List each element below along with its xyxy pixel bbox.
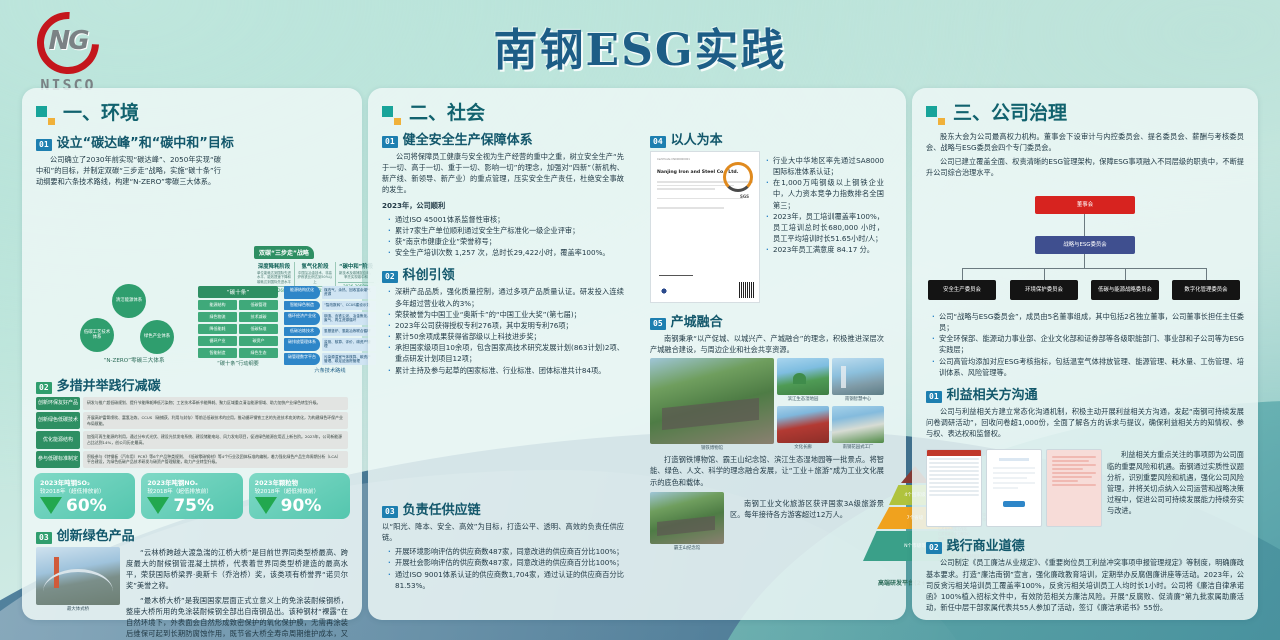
route-key: 低碳冶炼技术 (284, 327, 320, 336)
bullet-item: 通过ISO 45001体系监督性审核； (388, 214, 624, 225)
safety-body: 公司将保障员工健康与安全视为生产经营的重中之重，树立安全生产“先于一切、高于一切… (382, 151, 624, 196)
routes-caption: 六条技术路线 (284, 367, 376, 374)
photo-block-garden: 南钢花园式工厂 (832, 406, 884, 451)
supply-chain-bullets: 开展环境影响评估的供应商数487家，同意改进的供应商百分比100%；开展社会影响… (388, 546, 624, 591)
strategy-step-name: 氢气化阶段 (297, 262, 333, 270)
tourism-aside: 南钢工业文化旅游区获评国家3A级旅游景区。每年接待各方游客超过12万人。 (730, 498, 884, 551)
square-marker-icon (926, 106, 937, 117)
category-value: 加强可再生能源的利用，通过分布式光伏、建设光伏发电系统、建设储能电站、风力发电项… (83, 431, 348, 448)
smart-photo-caption: 南钢智慧中心 (832, 396, 884, 402)
memorial-row: 霸王山纪念馆 南钢工业文化旅游区获评国家3A级旅游景区。每年接待各方游客超过12… (650, 492, 884, 551)
subsection-heading-safety: 01 健全安全生产保障体系 (382, 129, 638, 148)
ten-policy-item: 绿色生态 (239, 348, 278, 358)
subsection-title: 设立“碳达峰”和“碳中和”目标 (57, 132, 234, 151)
governance-bullets: 公司“战略与ESG委员会”，成员由5名董事组成，其中包括2名独立董事，公司董事长… (932, 311, 1244, 378)
stat-metric: 2023年颗粒物 (255, 478, 344, 487)
subsection-title: 以人为本 (671, 129, 723, 148)
stat-row: 90% (255, 496, 344, 516)
memorial-photo-caption: 霸王山纪念馆 (650, 545, 724, 551)
org-connector-bus (962, 268, 1206, 269)
bullet-item: 累计主持及参与起草的国家标准、行业标准、团体标准共计84项。 (388, 365, 624, 376)
city-integration-footer: 打造钢铁博物馆、霸王山纪念馆、滨江生态湿地园等一批景点。将智能、绿色、人文、科学… (650, 454, 884, 487)
down-arrow-icon (255, 497, 277, 514)
ten-policy-item: 能源结构 (198, 300, 237, 310)
category-key: 创新绿色低碳技术 (36, 412, 80, 429)
down-arrow-icon (147, 497, 169, 514)
emission-stat-card: 2023年吨钢SO₂较2018年（超低排放前）60% (34, 473, 135, 519)
bullet-item: 2023年，员工培训覆盖率100%，员工培训总时长680,000 小时，员工平均… (766, 211, 884, 244)
certificate-seal-icon (723, 162, 753, 192)
safety-year-lead: 2023年，公司顺利 (382, 200, 624, 211)
subsection-number: 03 (36, 532, 52, 544)
bullet-item: 累计50余项成果获得省部级以上科技进步奖； (388, 331, 624, 342)
ten-policy-item: 低碳管理 (239, 300, 278, 310)
ten-policies-chart: “碳十条” 能源结构低碳管理绿色物流技术减碳降低能耗低碳标准循环产业碳资产智能制… (198, 286, 278, 367)
subsection-heading-carbon-goal: 01 设立“碳达峰”和“碳中和”目标 (36, 132, 362, 151)
shot-rows (1047, 450, 1101, 494)
bullet-item: 开展环境影响评估的供应商数487家，同意改进的供应商百分比100%； (388, 546, 624, 557)
memorial-photo (650, 492, 724, 544)
museum-photo (650, 358, 774, 444)
tech-route-row: 能源结构优化煤改气、余热、回收富余煤气资源 (284, 286, 376, 299)
certificate-id: Certificate CN000000001 (657, 158, 753, 161)
bullet-item: 2023年公司获得授权专利276项，其中发明专利76项； (388, 320, 624, 331)
stat-baseline: 较2018年（超低排放前） (255, 487, 344, 495)
green-product-p2: “最木桥大桥”是我国国家层面正式立意义上的免涂装耐候钢桥，整座大桥所用的免涂装耐… (126, 595, 348, 640)
stat-baseline: 较2018年（超低排放前） (40, 487, 129, 495)
six-tech-routes: 能源结构优化煤改气、余热、回收富余煤气资源智能绿色制造“智改数转”、CCUS建设… (284, 286, 376, 374)
photo-block-memorial: 霸王山纪念馆 (650, 492, 724, 551)
route-key: 智能绿色制造 (284, 301, 320, 310)
stat-metric: 2023年吨钢NOₓ (147, 478, 236, 487)
ten-policies-grid: 能源结构低碳管理绿色物流技术减碳降低能耗低碳标准循环产业碳资产智能制造绿色生态 (198, 300, 278, 358)
subsection-heading-decarbonization: 02 多措并举践行减碳 (36, 375, 362, 394)
org-connector-2 (1084, 254, 1085, 268)
square-marker-icon (382, 106, 393, 117)
bullet-item: 安全生产培训次数 1,257 次，总时长29,422小时，覆盖率100%。 (388, 247, 624, 258)
bridge-photo (36, 547, 120, 605)
decarbonization-category-row: 优化能源结构加强可再生能源的利用，通过分布式光伏、建设光伏发电系统、建设储能电站… (36, 431, 348, 448)
corridor-photo-caption: 文化长廊 (777, 444, 829, 450)
subsection-number: 03 (382, 506, 398, 518)
org-node-esg-committee: 战略与ESG委员会 (1035, 236, 1135, 254)
subsection-title: 科创引领 (403, 264, 455, 283)
square-accent-icon (48, 118, 55, 125)
org-drop-2 (1044, 268, 1045, 280)
bullet-item: 通过ISO 9001体系认证的供应商数1,704家，通过认证的供应商百分比81.… (388, 569, 624, 591)
governance-bullets-block: 公司“战略与ESG委员会”，成员由5名董事组成，其中包括2名独立董事，公司董事长… (912, 310, 1258, 616)
decarbonization-categories: 创新环保友好产品研发与推广超低碳规划、提升节能降耗降低污染物；工艺技术革新节能降… (22, 397, 362, 467)
section-title: 一、环境 (63, 98, 139, 125)
square-marker-icon (36, 106, 47, 117)
bullet-item: 在1,000万吨钢级以上钢铁企业中，人力资本竞争力指数排名全国第三； (766, 177, 884, 210)
ten-policies-header: “碳十条” (198, 286, 278, 298)
society-left-column: 01 健全安全生产保障体系 公司将保障员工健康与安全视为生产经营的重中之重，树立… (368, 122, 638, 378)
wetland-photo-caption: 滨江生态湿地园 (777, 396, 829, 402)
photo-grid-4: 滨江生态湿地园 南钢智慧中心 文化长廊 南钢花园式工厂 (777, 358, 884, 451)
shot-rows (927, 456, 981, 500)
shot-body (987, 450, 1041, 515)
nzero-caption: “N-ZERO”零碳三大体系 (78, 356, 190, 364)
strategy-tag: 双碳“三步走”战略 (254, 246, 314, 259)
category-key: 参与低碳标准制定 (36, 451, 80, 468)
bullet-item: 安全环保部、能源动力事业部、企业文化部和证券部等各级职能部门、事业部和子公司等为… (932, 333, 1244, 355)
category-value: 积极参与《特钢板（汽车用）PCR》等6个产品种类规则、《低碳零碳钢材》等4个行业… (83, 451, 348, 468)
org-drop-4 (1206, 268, 1207, 280)
city-integration-body: 南钢秉承“以产促城、以城兴产、产城融合”的理念，积极推进深层次产城融合建设，与周… (650, 333, 884, 355)
subsection-number: 02 (382, 271, 398, 283)
decarbonization-category-row: 创新绿色低碳技术开展高炉富氧喷吹、富氢冶炼、CCUS（碳捕获、利用与封存）等前沿… (36, 412, 348, 429)
org-node-low-carbon: 低碳与能源战略委员会 (1091, 280, 1159, 300)
garden-photo-caption: 南钢花园式工厂 (832, 444, 884, 450)
subsection-heading-supply-chain: 03 负责任供应链 (382, 499, 638, 518)
panel-society: 二、社会 01 健全安全生产保障体系 公司将保障员工健康与安全视为生产经营的重中… (368, 88, 906, 620)
photo-block-smart: 南钢智慧中心 (832, 358, 884, 403)
tech-route-row: 碳管理数字平台污染源温室气体核算、碳资产管理、碳足迹追踪管理 (284, 353, 376, 366)
ethics-body: 公司制定《员工廉洁从业规定》、《重要岗位员工利益冲突事项申报管理规定》等制度，明… (926, 557, 1244, 613)
subsection-heading-stakeholder: 01 利益相关方沟通 (926, 384, 1258, 403)
bullet-item: 开展社会影响评估的供应商数487家，同意改进的供应商百分比100%； (388, 557, 624, 568)
section-heading-governance: 三、公司治理 (926, 98, 1258, 125)
org-connector-1 (1084, 214, 1085, 236)
supply-chain-body: 以“阳光、降本、安全、高效”为目标，打造公平、透明、高效的负责任供应链。 (382, 521, 624, 543)
tech-route-row: 智能绿色制造“智改数转”、CCUS建设示范 (284, 301, 376, 310)
wetland-photo (777, 358, 829, 395)
subsection-title: 负责任供应链 (403, 499, 481, 518)
photo-block-wetland: 滨江生态湿地园 (777, 358, 829, 403)
subsection-title: 践行商业道德 (947, 535, 1025, 554)
org-drop-3 (1125, 268, 1126, 280)
bullet-item: 承担国家级项目10余项，包含国家高技术研究发展计划(863计划)2项、重点研发计… (388, 342, 624, 364)
bullet-item: 深耕产品品质，强化质量控制，通过多项产品质量认证。研发投入连续多年超过营业收入的… (388, 286, 624, 308)
subsection-heading-people: 04 以人为本 (650, 129, 898, 148)
bridge-photo-block: 最大体式桥 (36, 547, 120, 640)
certificate-logo-icon (659, 286, 669, 296)
stat-baseline: 较2018年（超低排放前） (147, 487, 236, 495)
supply-chain-block: 03 负责任供应链 以“阳光、降本、安全、高效”为目标，打造公平、透明、高效的负… (368, 492, 638, 593)
down-arrow-icon (40, 497, 62, 514)
category-value: 研发与推广超低碳规划、提升节能降耗降低污染物；工艺技术革新节能降耗、聚力区域重点… (83, 397, 348, 410)
subsection-number: 01 (926, 391, 942, 403)
city-photo-grid: 钢铁博物馆 滨江生态湿地园 南钢智慧中心 文化长廊 南钢花园式工厂 (650, 358, 884, 451)
org-node-board: 董事会 (1035, 196, 1135, 214)
section-heading-environment: 一、环境 (36, 98, 362, 125)
ten-policy-item: 循环产业 (198, 336, 237, 346)
subsection-heading-ethics: 02 践行商业道德 (926, 535, 1258, 554)
stat-row: 60% (40, 496, 129, 516)
tech-route-row: 循环经济产业化钢渣、含铁尘泥、冶金焦化、废气、再生资源循环 (284, 312, 376, 325)
square-accent-icon (938, 118, 945, 125)
museum-photo-caption: 钢铁博物馆 (650, 445, 774, 451)
sa8000-certificate-image: Certificate CN000000001 Nanjing Iron and… (650, 151, 760, 303)
nzero-node-2: 低碳工艺技术体系 (80, 318, 114, 352)
subsection-number: 02 (926, 542, 942, 554)
safety-bullets: 通过ISO 45001体系监督性审核；累计7家生产单位顺利通过安全生产标准化一级… (388, 214, 624, 259)
category-key: 创新环保友好产品 (36, 397, 80, 410)
ten-policies-caption: “碳十条”行动纲要 (198, 360, 278, 367)
bullet-item: 2023年员工满意度 84.17 分。 (766, 244, 884, 255)
emission-stat-card: 2023年颗粒物较2018年（超低排放前）90% (249, 473, 350, 519)
subsection-number: 01 (382, 136, 398, 148)
people-row: Certificate CN000000001 Nanjing Iron and… (650, 151, 884, 303)
strategy-step-desc: 单位能耗达到国际先进水平，能效提速下降和碳耗达到国际先进水平 (256, 271, 292, 284)
governance-org-chart: 董事会 战略与ESG委员会 安全生产委员会 环境保护委员会 低碳与能源战略委员会… (924, 196, 1246, 308)
stat-percent: 90% (281, 496, 322, 516)
subsection-number: 01 (36, 139, 52, 151)
nzero-diagram: 清洁能源体系 低碳工艺技术体系 绿色产业体系 “N-ZERO”零碳三大体系 (78, 284, 190, 362)
stat-metric: 2023年吨钢SO₂ (40, 478, 129, 487)
ten-policy-item: 智能制造 (198, 348, 237, 358)
subsection-title: 利益相关方沟通 (947, 384, 1038, 403)
strategy-step-name: 深度降耗阶段 (256, 262, 292, 270)
governance-intro-1: 股东大会为公司最高权力机构。董事会下设审计与内控委员会、提名委员会、薪酬与考核委… (926, 131, 1244, 153)
garden-factory-photo (832, 406, 884, 443)
category-value: 开展高炉富氧喷吹、富氢冶炼、CCUS（碳捕获、利用与封存）等前沿低碳技术的应用，… (83, 412, 348, 429)
society-right-column: 04 以人为本 Certificate CN000000001 Nanjing … (636, 122, 898, 551)
shot-materiality-matrix: 重要议题矩阵 (1046, 449, 1102, 527)
org-node-digital: 数字化管理委员会 (1172, 280, 1240, 300)
subsection-title: 健全安全生产保障体系 (403, 129, 533, 148)
photo-block-corridor: 文化长廊 (777, 406, 829, 451)
stakeholder-body: 公司与利益相关方建立常态化沟通机制，积极主动开展利益相关方沟通，发起“南钢可持续… (926, 406, 1244, 439)
emission-stat-card: 2023年吨钢NOₓ较2018年（超低排放前）75% (141, 473, 242, 519)
certificate-signature (659, 269, 693, 276)
subsection-heading-city-integration: 05 产城融合 (650, 311, 898, 330)
bullet-item: 累计7家生产单位顺利通过安全生产标准化一级企业评审； (388, 225, 624, 236)
shot-survey-questionnaire: 可持续发展调查问卷 (986, 449, 1042, 527)
stat-row: 75% (147, 496, 236, 516)
bullet-item: 荣获被誉为中国工业“奥斯卡”的“中国工业大奖”(第七届)； (388, 309, 624, 320)
stakeholder-row: 利益相关方分类 可持续发展调查问卷 重要议题 (926, 449, 1244, 527)
strategy-step-desc: 中国氢冶金技术，非高炉炼铁比例达到50%以上 (297, 271, 333, 284)
stakeholder-aside: 利益相关方重点关注的事项即为公司面临的重要风险和机遇。南钢通过实质性议题分析，识… (1107, 449, 1244, 527)
tech-route-row: 低碳冶炼技术氢基竖炉、氢能冶炼联合循环 (284, 327, 376, 336)
ten-policy-item: 碳资产 (239, 336, 278, 346)
route-key: 碳管理数字平台 (284, 353, 320, 366)
decarbonization-category-row: 参与低碳标准制定积极参与《特钢板（汽车用）PCR》等6个产品种类规则、《低碳零碳… (36, 451, 348, 468)
panel-environment: 一、环境 01 设立“碳达峰”和“碳中和”目标 公司确立了2030年前实现“碳达… (22, 88, 362, 620)
route-key: 循环经济产业化 (284, 312, 320, 325)
routes-list: 能源结构优化煤改气、余热、回收富余煤气资源智能绿色制造“智改数转”、CCUS建设… (284, 286, 376, 365)
category-key: 优化能源结构 (36, 431, 80, 448)
route-key: 能源结构优化 (284, 286, 320, 299)
certificate-seal-label: SGS (740, 194, 749, 199)
subsection-title: 多措并举践行减碳 (57, 375, 161, 394)
subsection-number: 02 (36, 382, 52, 394)
section-title: 三、公司治理 (953, 98, 1067, 125)
emission-stat-cards: 2023年吨钢SO₂较2018年（超低排放前）60%2023年吨钢NOₓ较201… (34, 473, 350, 519)
decarbonization-category-row: 创新环保友好产品研发与推广超低碳规划、提升节能降耗降低污染物；工艺技术革新节能降… (36, 397, 348, 410)
nzero-node-1: 清洁能源体系 (112, 284, 146, 318)
green-products-top: 最大体式桥 “云林桥跨越大渡急湍的江桥大桥”是目前世界同类型桥最高、跨度最大的耐… (36, 547, 348, 640)
subsection-number: 05 (650, 318, 666, 330)
certificate-qr-icon (739, 282, 755, 298)
ten-policy-item: 技术减碳 (239, 312, 278, 322)
innovation-bullets: 深耕产品品质，强化质量控制，通过多项产品质量认证。研发投入连续多年超过营业收入的… (388, 286, 624, 375)
photo-block-museum: 钢铁博物馆 (650, 358, 774, 451)
shot-stakeholder-classification: 利益相关方分类 (926, 449, 982, 527)
stat-percent: 60% (66, 496, 107, 516)
people-bullets: 行业大中华地区率先通过SA8000国际标准体系认证；在1,000万吨钢级以上钢铁… (766, 155, 884, 303)
bullet-item: 公司“战略与ESG委员会”，成员由5名董事组成，其中包括2名独立董事，公司董事长… (932, 311, 1244, 333)
subsection-title: 产城融合 (671, 311, 723, 330)
org-drop-1 (962, 268, 963, 280)
bullet-item: 公司高管均添加对应ESG考核指标，包括温室气体排放管理、能源管理、耗水量、工伤管… (932, 356, 1244, 378)
carbon-goal-body: 公司确立了2030年前实现“碳达峰”、2050年实现“碳中和”的目标，并制定双碳… (36, 154, 221, 187)
org-node-safety: 安全生产委员会 (928, 280, 996, 300)
ten-policy-item: 绿色物流 (198, 312, 237, 322)
corridor-photo (777, 406, 829, 443)
governance-intro-2: 公司已建立覆盖全面、权责清晰的ESG管理架构，保障ESG事项融入不同层级的职责中… (926, 156, 1244, 178)
org-node-environment: 环境保护委员会 (1010, 280, 1078, 300)
ten-policy-item: 低碳标准 (239, 324, 278, 334)
nzero-node-3: 绿色产业体系 (140, 320, 174, 354)
page-title: 南钢ESG实践 (0, 14, 1280, 78)
green-product-p1: “云林桥跨越大渡急湍的江桥大桥”是目前世界同类型桥最高、跨度最大的耐候钢管混凝土… (126, 547, 348, 592)
subsection-title: 创新绿色产品 (57, 525, 135, 544)
smart-center-photo (832, 358, 884, 395)
subsection-number: 04 (650, 136, 666, 148)
bullet-item: 行业大中华地区率先通过SA8000国际标准体系认证； (766, 155, 884, 177)
ten-policy-item: 降低能耗 (198, 324, 237, 334)
subsection-heading-green-products: 03 创新绿色产品 (36, 525, 362, 544)
section-heading-society: 二、社会 (382, 98, 906, 125)
stakeholder-shots: 利益相关方分类 可持续发展调查问卷 重要议题 (926, 449, 1102, 527)
bullet-item: 获“南京市健康企业”荣誉称号； (388, 236, 624, 247)
section-title: 二、社会 (409, 98, 485, 125)
stat-percent: 75% (173, 496, 214, 516)
route-key: 碳排放管理体系 (284, 338, 320, 351)
tech-route-row: 碳排放管理体系监测、核算、评价、碳资产管理 (284, 338, 376, 351)
bridge-photo-caption: 最大体式桥 (36, 606, 120, 612)
subsection-heading-innovation: 02 科创引领 (382, 264, 638, 283)
